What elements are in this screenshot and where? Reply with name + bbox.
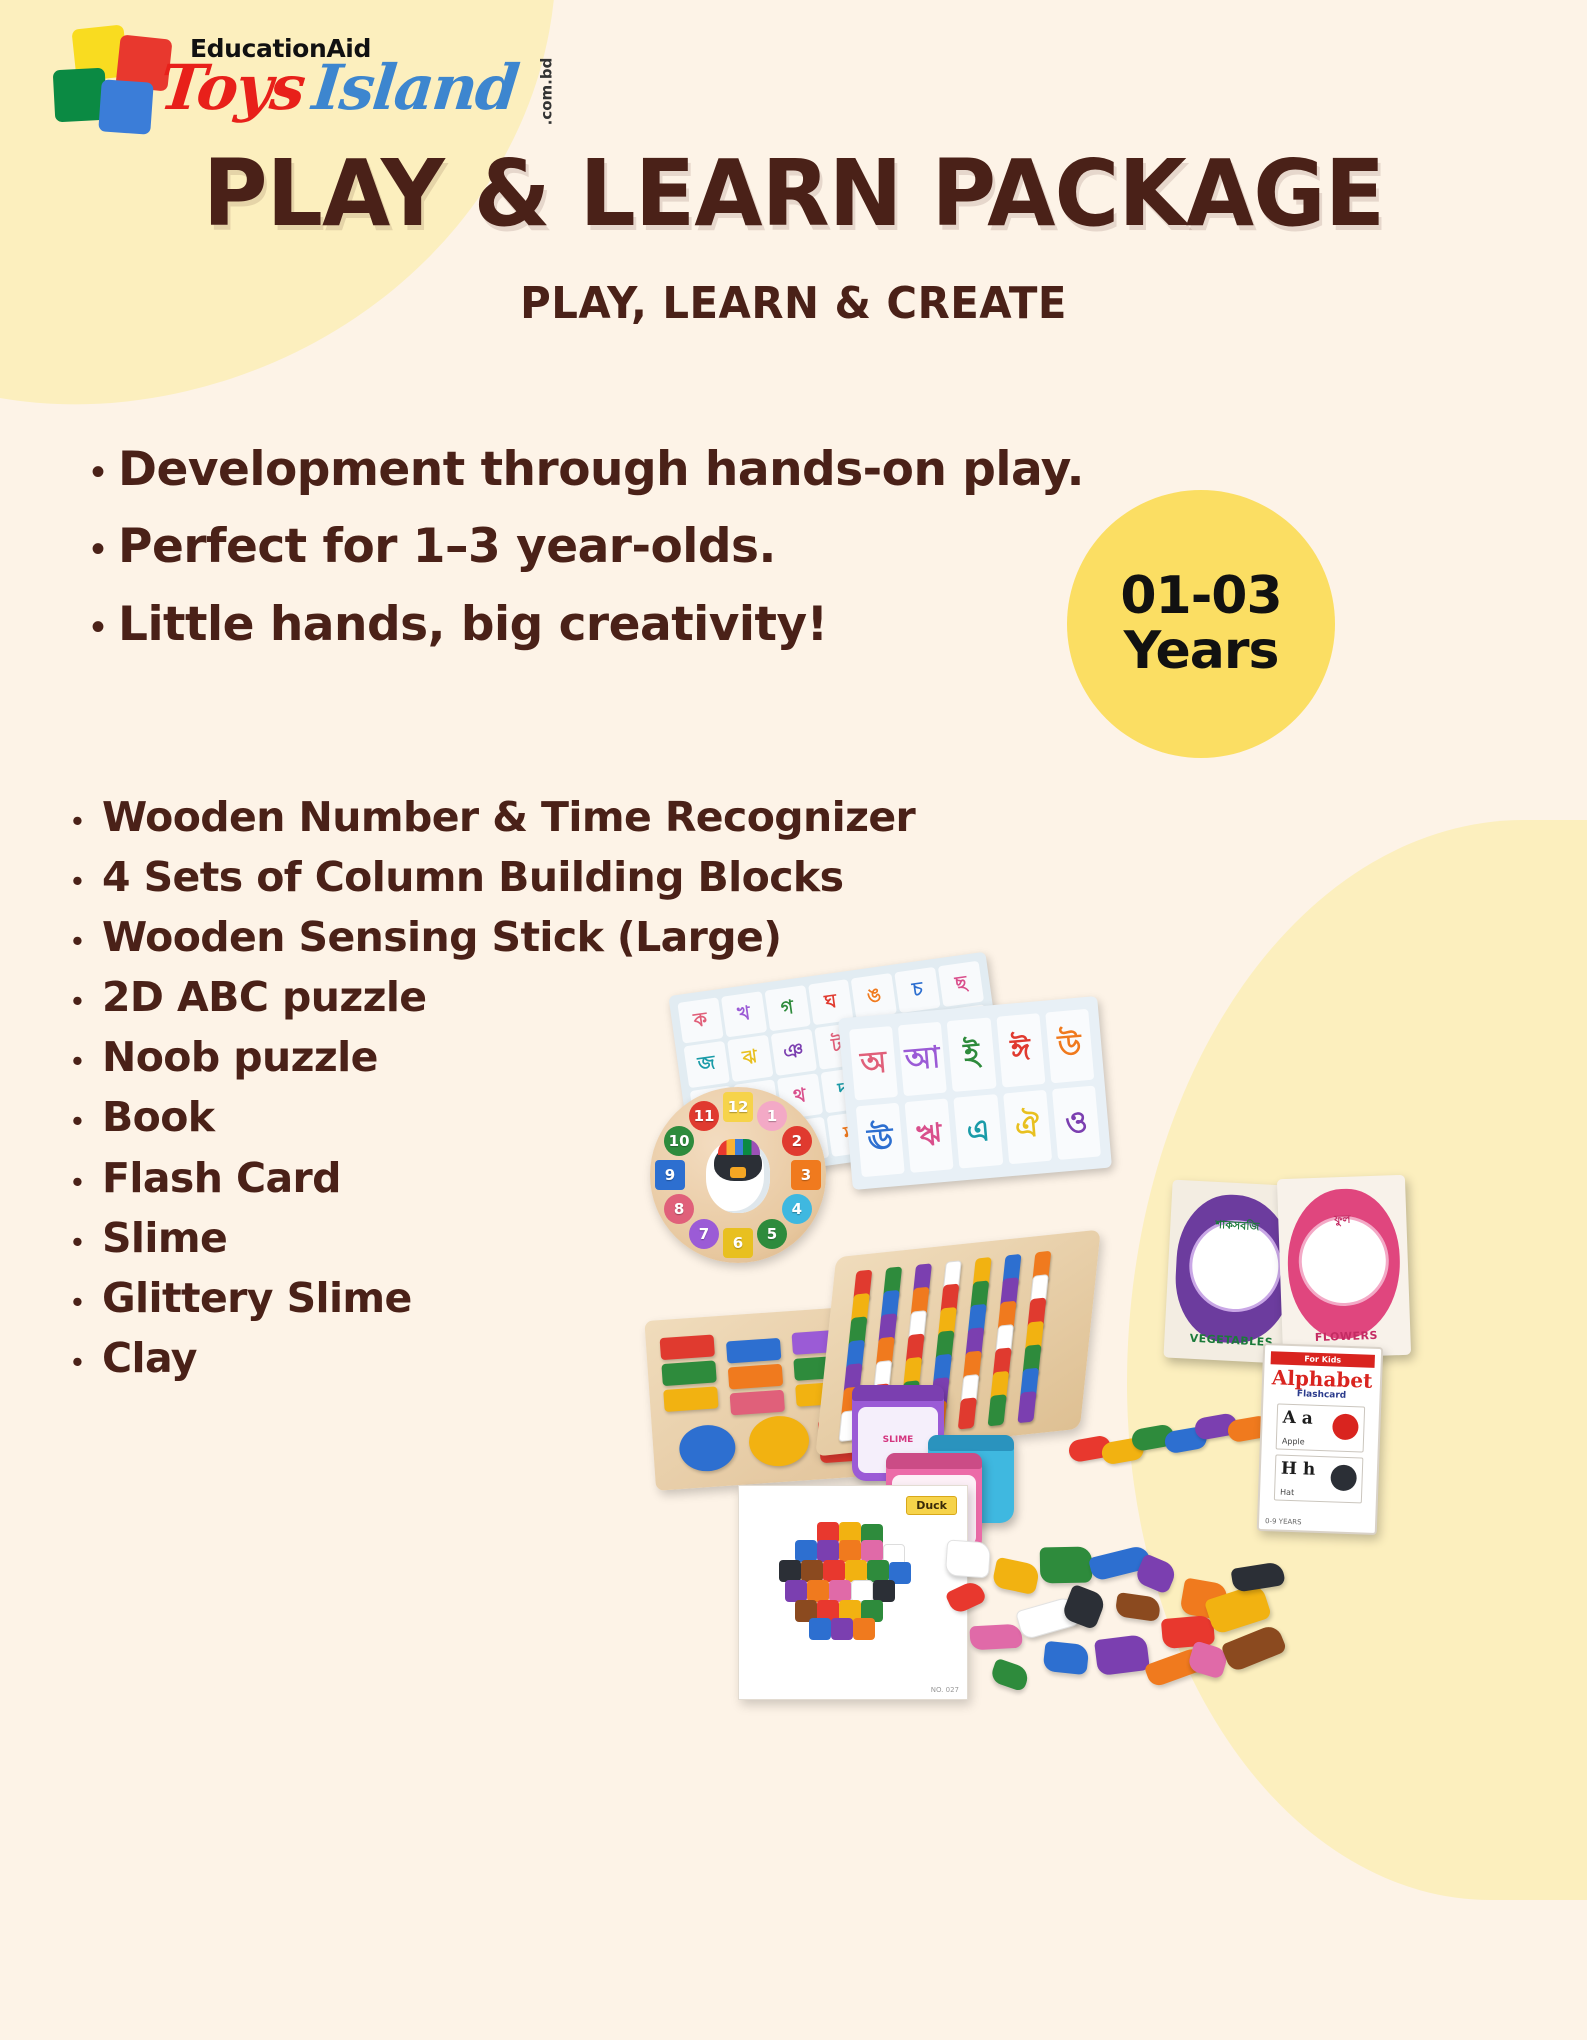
feature-text: Development through hands-on play. xyxy=(118,442,1084,497)
duck-puzzle-piece xyxy=(839,1540,861,1562)
puzzle-pieces-icon xyxy=(48,25,150,129)
stacker-ring xyxy=(678,1423,737,1473)
duck-puzzle-piece xyxy=(829,1580,851,1602)
bullet-icon: • xyxy=(78,607,118,647)
jar-lid-icon xyxy=(886,1453,982,1469)
duck-puzzle-pieces xyxy=(765,1522,915,1642)
product-name: Clay xyxy=(102,1336,197,1381)
product-name: Wooden Number & Time Recognizer xyxy=(102,795,915,840)
clay-block xyxy=(945,1579,988,1616)
list-item: • Book xyxy=(64,1095,964,1140)
duck-puzzle-piece xyxy=(851,1580,873,1602)
brand-tld: .com.bd xyxy=(540,57,555,125)
list-item: • 4 Sets of Column Building Blocks xyxy=(64,855,964,900)
brand-logo: EducationAid Toys Island .com.bd xyxy=(48,22,468,132)
building-block-peg xyxy=(958,1397,977,1429)
flashcard-word: Hat xyxy=(1280,1488,1294,1497)
list-item: • Clay xyxy=(64,1336,964,1381)
building-block-peg xyxy=(1017,1391,1036,1423)
product-name: Flash Card xyxy=(102,1156,341,1201)
bullet-icon: • xyxy=(64,1045,102,1076)
page-title: PLAY & LEARN PACKAGE xyxy=(32,140,1556,247)
hat-icon xyxy=(1330,1464,1357,1491)
age-range-badge: 01-03 Years xyxy=(1067,490,1335,758)
duck-label: Duck xyxy=(906,1496,957,1515)
flashcard-letter: A a xyxy=(1282,1408,1313,1429)
duck-puzzle-piece xyxy=(807,1580,829,1602)
duck-puzzle-piece xyxy=(817,1540,839,1562)
clay-block xyxy=(989,1658,1031,1692)
list-item: • Perfect for 1–3 year-olds. xyxy=(78,519,1138,574)
product-name: 4 Sets of Column Building Blocks xyxy=(102,855,843,900)
flashcard-letter: H h xyxy=(1281,1459,1316,1480)
page-subtitle: PLAY, LEARN & CREATE xyxy=(40,278,1548,329)
feature-text: Perfect for 1–3 year-olds. xyxy=(118,519,776,574)
list-item: • Flash Card xyxy=(64,1156,964,1201)
list-item: • 2D ABC puzzle xyxy=(64,975,964,1020)
duck-puzzle-piece xyxy=(795,1540,817,1562)
duck-puzzle-piece xyxy=(785,1580,807,1602)
product-name: Book xyxy=(102,1095,214,1140)
alphabet-flashcard-box: For Kids Alphabet Flashcard A a Apple H … xyxy=(1257,1343,1383,1535)
product-name: Wooden Sensing Stick (Large) xyxy=(102,915,781,960)
brand-toys: Toys xyxy=(157,57,307,119)
flashcard-word: Apple xyxy=(1282,1437,1305,1447)
list-item: • Development through hands-on play. xyxy=(78,442,1138,497)
age-range-unit: Years xyxy=(1124,624,1279,679)
flashcard-sample-a: A a Apple xyxy=(1276,1403,1366,1452)
duck-puzzle-piece xyxy=(867,1560,889,1582)
clay-block xyxy=(991,1557,1040,1595)
clay-block xyxy=(1221,1623,1288,1673)
brand-island: Island xyxy=(310,57,521,119)
list-item: • Glittery Slime xyxy=(64,1276,964,1321)
duck-puzzle-piece xyxy=(809,1618,831,1640)
duck-puzzle-piece xyxy=(823,1560,845,1582)
building-block-peg xyxy=(988,1394,1007,1426)
bullet-icon: • xyxy=(64,925,102,956)
list-item: • Noob puzzle xyxy=(64,1035,964,1080)
bullet-icon: • xyxy=(64,1286,102,1317)
puzzle-piece-blue-icon xyxy=(98,79,154,135)
flashcard-title: Alphabet xyxy=(1270,1367,1375,1392)
bullet-icon: • xyxy=(78,452,118,492)
bullet-icon: • xyxy=(64,1166,102,1197)
brand-wordmark: EducationAid Toys Island .com.bd xyxy=(160,36,581,119)
list-item: • Little hands, big creativity! xyxy=(78,597,1138,652)
bullet-icon: • xyxy=(64,1346,102,1377)
list-item: • Slime xyxy=(64,1216,964,1261)
bullet-icon: • xyxy=(64,985,102,1016)
feature-text: Little hands, big creativity! xyxy=(118,597,828,652)
clay-block xyxy=(945,1540,991,1579)
promo-poster: EducationAid Toys Island .com.bd PLAY & … xyxy=(0,0,1587,1780)
bullet-icon: • xyxy=(64,865,102,896)
product-name: Noob puzzle xyxy=(102,1035,378,1080)
clay-block xyxy=(1115,1592,1162,1622)
book-title-english: FLOWERS xyxy=(1282,1328,1410,1345)
duck-puzzle-piece xyxy=(831,1618,853,1640)
flashcard-sample-h: H h Hat xyxy=(1274,1454,1364,1503)
age-range-value: 01-03 xyxy=(1120,569,1281,624)
flowers-board-book: ফুল FLOWERS xyxy=(1277,1175,1411,1359)
list-item: • Wooden Sensing Stick (Large) xyxy=(64,915,964,960)
clay-block xyxy=(1230,1561,1285,1593)
bengali-letter-piece: ঈ xyxy=(996,1013,1045,1087)
clay-blocks-pile xyxy=(940,1525,1270,1715)
stacker-ring xyxy=(747,1414,810,1468)
bengali-letter-piece: উ xyxy=(1045,1009,1094,1083)
product-name: Slime xyxy=(102,1216,227,1261)
loose-peg-strip xyxy=(1067,1405,1282,1491)
bullet-icon: • xyxy=(64,805,102,836)
bullet-icon: • xyxy=(64,1105,102,1136)
bullet-icon: • xyxy=(78,529,118,569)
flashcard-footer: 0-9 YEARS xyxy=(1265,1517,1302,1526)
bengali-letter-piece: ও xyxy=(1052,1086,1101,1160)
clay-block xyxy=(969,1624,1022,1651)
duck-puzzle-piece xyxy=(801,1560,823,1582)
apple-icon xyxy=(1332,1413,1359,1440)
product-name: Glittery Slime xyxy=(102,1276,412,1321)
duck-puzzle-piece xyxy=(845,1560,867,1582)
duck-alphabet-puzzle: Duck NO. 027 xyxy=(738,1485,968,1700)
duck-puzzle-piece xyxy=(853,1618,875,1640)
product-inclusion-list: • Wooden Number & Time Recognizer • 4 Se… xyxy=(64,795,964,1396)
clay-block xyxy=(1043,1641,1090,1675)
duck-puzzle-piece xyxy=(779,1560,801,1582)
clay-block xyxy=(1040,1547,1093,1584)
bengali-letter-piece: ঐ xyxy=(1003,1090,1052,1164)
product-name: 2D ABC puzzle xyxy=(102,975,427,1020)
feature-list: • Development through hands-on play. • P… xyxy=(78,442,1138,674)
list-item: • Wooden Number & Time Recognizer xyxy=(64,795,964,840)
duck-puzzle-piece xyxy=(873,1580,895,1602)
clay-block xyxy=(1094,1634,1150,1676)
duck-puzzle-piece xyxy=(861,1540,883,1562)
bullet-icon: • xyxy=(64,1226,102,1257)
jar-lid-icon xyxy=(928,1435,1014,1451)
